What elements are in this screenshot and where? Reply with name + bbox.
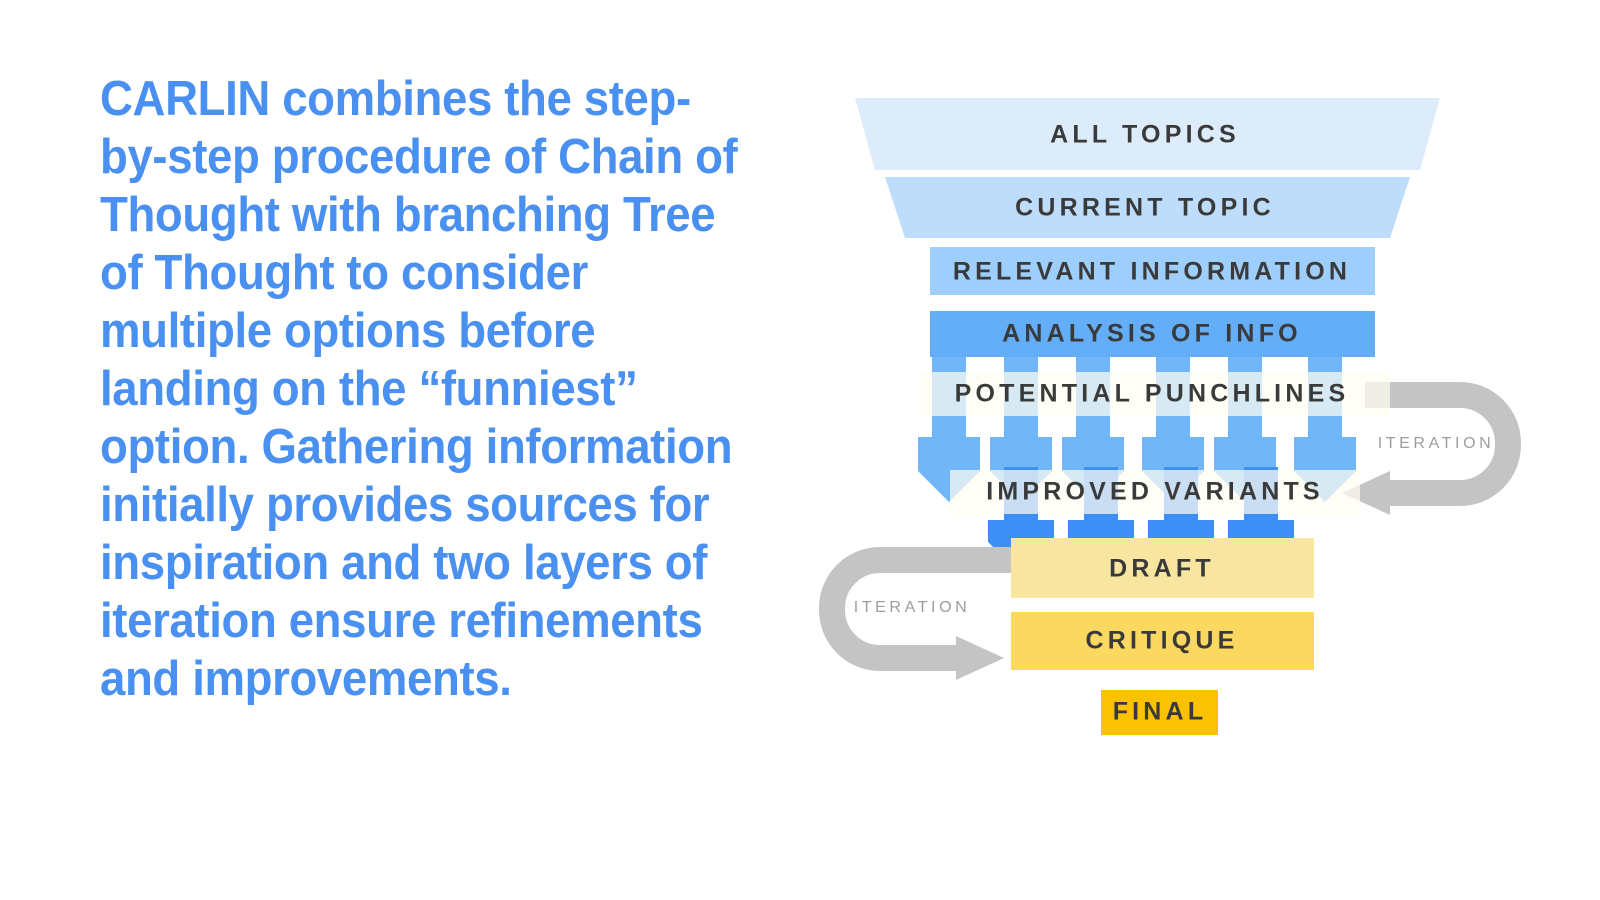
stage-critique[interactable]: CRITIQUE: [1011, 612, 1314, 670]
stage-relevant-information-label: RELEVANT INFORMATION: [953, 258, 1351, 286]
description-text: CARLIN combines the step-by-step procedu…: [100, 70, 751, 708]
slide-canvas: CARLIN combines the step-by-step procedu…: [0, 0, 1600, 900]
stage-improved-variants-label: IMPROVED VARIANTS: [986, 478, 1324, 506]
stage-critique-label: CRITIQUE: [1085, 627, 1238, 655]
iteration-left-label: ITERATION: [854, 599, 971, 616]
stage-final-label: FINAL: [1113, 698, 1208, 726]
stage-all-topics[interactable]: ALL TOPICS: [855, 98, 1440, 170]
funnel-diagram: ITERATION ITERATION ALL TOPICS CURRENT T…: [760, 60, 1580, 780]
stage-potential-punchlines-label: POTENTIAL PUNCHLINES: [955, 380, 1350, 408]
iteration-right-label: ITERATION: [1378, 435, 1495, 452]
stage-analysis-of-info-label: ANALYSIS OF INFO: [1002, 320, 1302, 348]
stage-improved-variants[interactable]: IMPROVED VARIANTS: [950, 470, 1360, 514]
stage-draft[interactable]: DRAFT: [1011, 538, 1314, 598]
stage-analysis-of-info[interactable]: ANALYSIS OF INFO: [930, 311, 1375, 357]
stage-potential-punchlines[interactable]: POTENTIAL PUNCHLINES: [920, 372, 1390, 416]
stage-current-topic[interactable]: CURRENT TOPIC: [885, 177, 1410, 238]
iteration-loop-left: ITERATION: [832, 560, 1015, 680]
stage-relevant-information[interactable]: RELEVANT INFORMATION: [930, 247, 1375, 295]
stage-current-topic-label: CURRENT TOPIC: [1015, 194, 1275, 222]
stage-final[interactable]: FINAL: [1101, 690, 1218, 735]
stage-draft-label: DRAFT: [1109, 555, 1215, 583]
stage-all-topics-label: ALL TOPICS: [1050, 121, 1240, 149]
